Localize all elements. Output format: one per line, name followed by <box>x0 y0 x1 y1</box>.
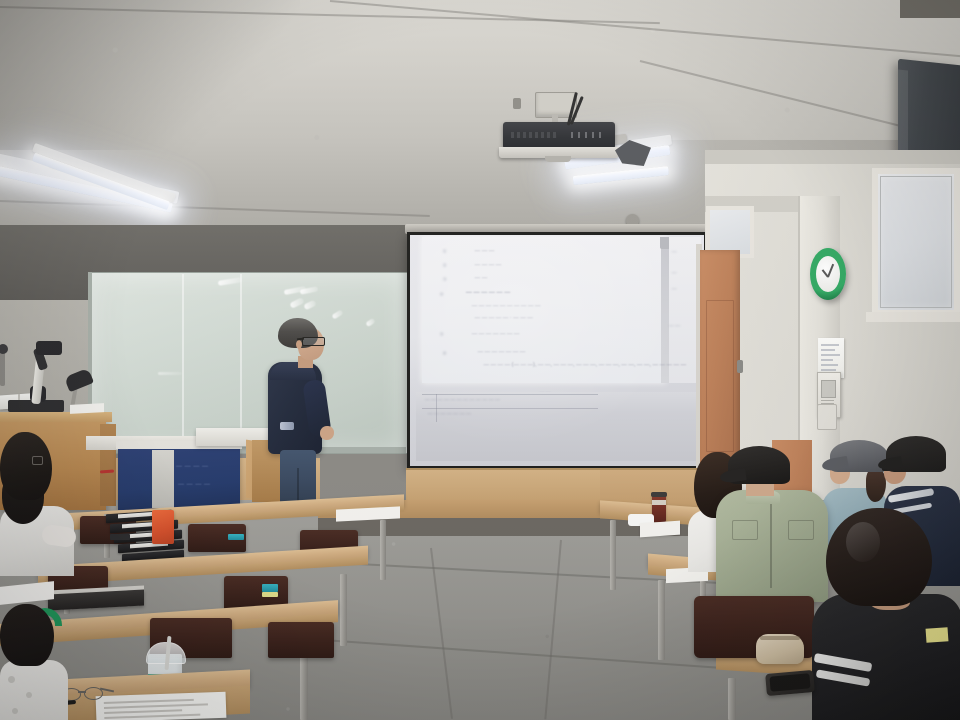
right-wall-trim <box>705 150 960 164</box>
intercom[interactable] <box>817 404 837 430</box>
wall-trim <box>900 0 960 18</box>
blue-cabinet: — — — — — — — — <box>118 448 240 510</box>
tumbler-lid <box>651 492 667 497</box>
projector-lens <box>545 156 571 162</box>
student-hair <box>0 432 52 500</box>
student-front-left <box>0 604 72 720</box>
desk-leg <box>610 520 616 590</box>
whiteboard-reflection <box>158 372 182 375</box>
student-left-white-top <box>0 432 80 572</box>
gooseneck-microphone <box>0 350 5 386</box>
projection-screen-surface: ① — — — ② — — — — ③ — — ④ — — — — — — — … <box>410 235 704 466</box>
tumbler-band <box>652 500 666 505</box>
instructor-sleeve-logo <box>280 422 294 430</box>
whiteboard-seam <box>240 274 242 450</box>
pouch-zipper <box>760 636 800 640</box>
eyeglasses-bridge <box>78 691 86 693</box>
shirt-pocket <box>788 520 814 540</box>
shirt-seam <box>770 504 772 588</box>
sticky-note <box>926 627 949 643</box>
desk-leg <box>728 678 736 720</box>
door-panel <box>706 300 734 452</box>
desk-leg <box>380 520 386 580</box>
blue-cabinet-panel <box>152 450 174 508</box>
desk-leg <box>658 580 665 660</box>
screen-glare <box>410 235 704 466</box>
chair[interactable] <box>268 622 334 658</box>
worksheet <box>96 692 227 720</box>
instructor <box>262 318 332 508</box>
projector-bracket-hole <box>513 98 521 109</box>
student-hair <box>0 604 54 666</box>
classroom-photo: ① — — — ② — — — — ③ — — ④ — — — — — — — … <box>0 0 960 720</box>
ceiling-shadow <box>0 0 300 150</box>
chair-sticker <box>262 592 278 597</box>
teacher-desk-top <box>0 412 112 422</box>
whiteboard-seam <box>182 274 184 450</box>
projector-indicator-lights <box>571 132 605 138</box>
hair-highlight <box>846 522 880 562</box>
wall-control-panel-display <box>821 380 836 398</box>
window-sill <box>866 312 960 322</box>
whiteboard <box>88 272 408 454</box>
student-glasses <box>32 456 43 465</box>
loose-papers <box>640 521 680 538</box>
orange-box <box>152 510 174 544</box>
instructor-hand <box>320 426 334 440</box>
interior-window-pane <box>880 176 952 308</box>
student-top <box>0 660 68 720</box>
shirt-pocket <box>732 520 758 540</box>
student-front-black-top <box>812 508 960 720</box>
projector-vent <box>511 132 557 138</box>
chair-sticker <box>262 584 278 592</box>
door-handle[interactable] <box>737 360 743 373</box>
papers-on-teacher-desk <box>70 403 104 414</box>
ceiling-projector <box>497 92 627 164</box>
chair-sticker <box>228 534 244 540</box>
tumbler <box>652 494 666 522</box>
document-camera-head <box>36 341 62 355</box>
student-hair <box>826 508 932 606</box>
projection-screen: ① — — — ② — — — — ③ — — ④ — — — — — — — … <box>407 232 707 469</box>
instructor-glasses <box>302 337 325 346</box>
desk-leg <box>340 574 347 646</box>
small-device <box>110 534 130 540</box>
